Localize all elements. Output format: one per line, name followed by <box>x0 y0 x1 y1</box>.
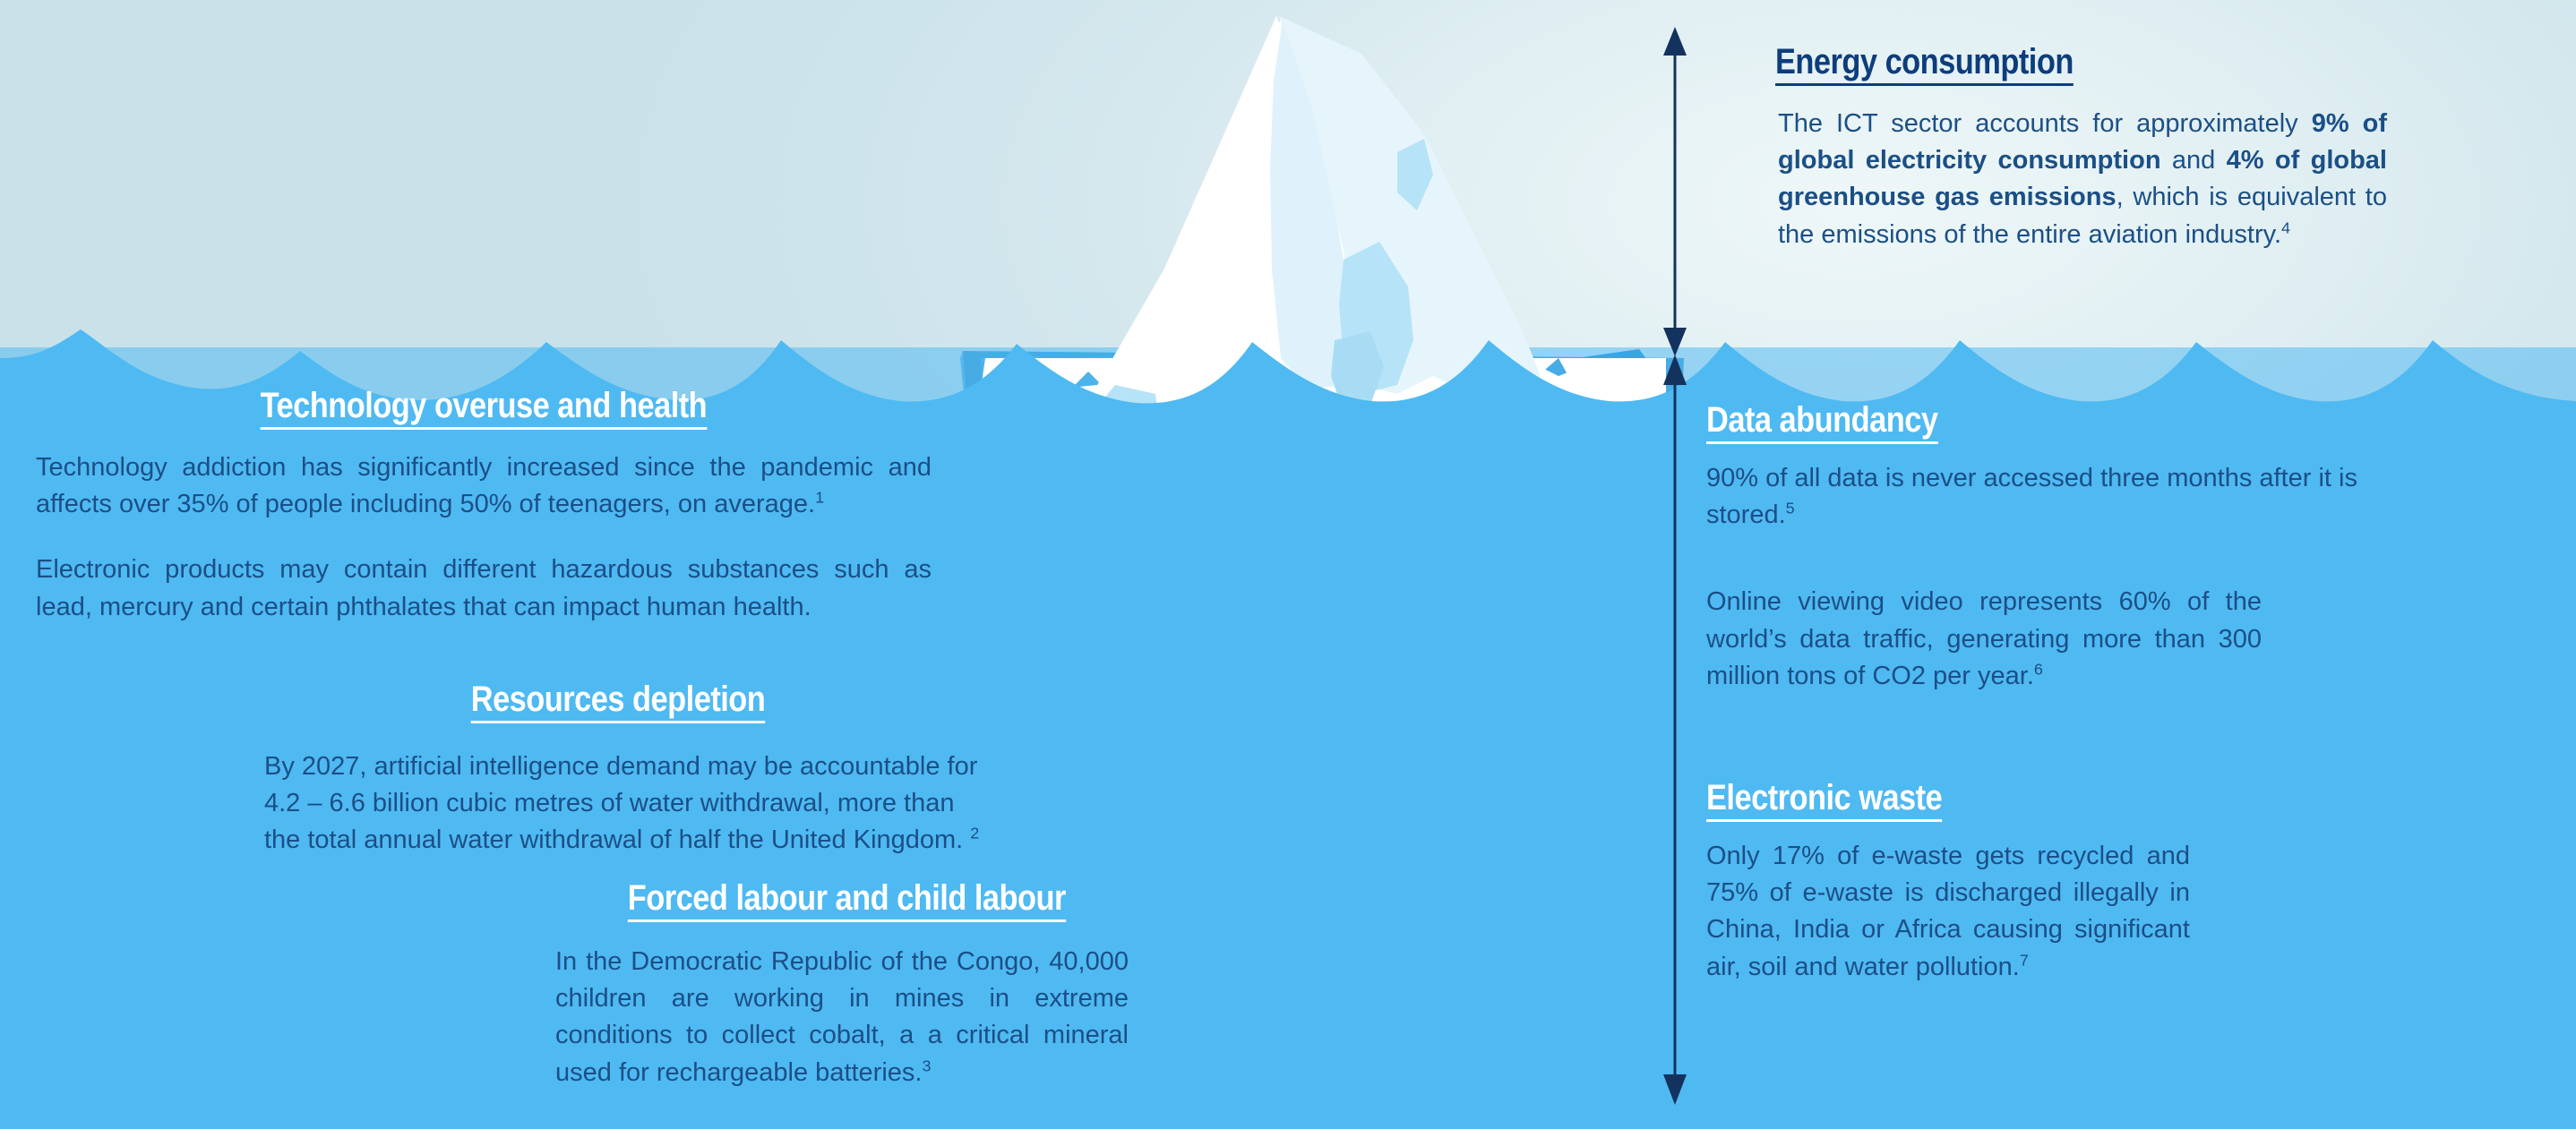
paragraph-forced-labour: In the Democratic Republic of the Congo,… <box>555 944 1129 1091</box>
tech-p2-text: Electronic products may contain differen… <box>36 555 932 620</box>
paragraph-technology-addiction: Technology addiction has significantly i… <box>36 449 932 523</box>
heading-forced-labour: Forced labour and child labour <box>627 879 1065 922</box>
energy-seg-0: The ICT sector accounts for approximatel… <box>1778 109 2312 138</box>
below-water-extent-arrow <box>1663 355 1687 1105</box>
heading-resources-depletion: Resources depletion <box>471 680 766 723</box>
ewaste-text: Only 17% of e-waste gets recycled and 75… <box>1706 842 2190 981</box>
heading-wrap-technology: Technology overuse and health <box>36 387 932 430</box>
energy-seg-2: and <box>2161 146 2227 175</box>
heading-wrap-electronic-waste: Electronic waste <box>1706 779 2208 822</box>
footnote-marker-2: 2 <box>970 825 979 842</box>
heading-electronic-waste: Electronic waste <box>1706 779 1942 822</box>
footnote-marker-5: 5 <box>1786 500 1795 517</box>
paragraph-energy-consumption: The ICT sector accounts for approximatel… <box>1778 106 2387 253</box>
heading-data-abundancy: Data abundancy <box>1706 401 1937 444</box>
res-text: By 2027, artificial intelligence demand … <box>264 752 977 854</box>
heading-technology-overuse: Technology overuse and health <box>261 387 708 430</box>
heading-energy-consumption: Energy consumption <box>1775 43 2074 86</box>
paragraph-electronic-waste: Only 17% of e-waste gets recycled and 75… <box>1706 838 2190 986</box>
section-energy-consumption: Energy consumption The ICT sector accoun… <box>1778 43 2405 253</box>
data-p1-text: 90% of all data is never accessed three … <box>1706 464 2357 529</box>
paragraph-resources-depletion: By 2027, artificial intelligence demand … <box>264 748 981 860</box>
section-forced-labour: Forced labour and child labour In the De… <box>555 879 1138 1091</box>
section-resources-depletion: Resources depletion By 2027, artificial … <box>264 680 972 860</box>
footnote-marker-3: 3 <box>922 1056 931 1074</box>
section-electronic-waste: Electronic waste Only 17% of e-waste get… <box>1706 779 2208 986</box>
forced-text: In the Democratic Republic of the Congo,… <box>555 947 1129 1087</box>
heading-wrap-forced-labour: Forced labour and child labour <box>555 879 1138 922</box>
infographic-canvas: Energy consumption The ICT sector accoun… <box>0 0 2576 1129</box>
footnote-marker-4: 4 <box>2281 218 2290 236</box>
footnote-marker-1: 1 <box>815 489 824 507</box>
heading-wrap-resources: Resources depletion <box>264 680 972 723</box>
section-technology-overuse: Technology overuse and health Technology… <box>36 387 932 626</box>
data-p2-text: Online viewing video represents 60% of t… <box>1706 587 2262 689</box>
above-water-extent-arrow <box>1663 27 1687 356</box>
section-data-abundancy: Data abundancy 90% of all data is never … <box>1706 401 2423 695</box>
paragraph-hazardous-substances: Electronic products may contain differen… <box>36 552 932 625</box>
tech-p1-text: Technology addiction has significantly i… <box>36 453 932 518</box>
heading-wrap-data-abundancy: Data abundancy <box>1706 401 2423 444</box>
heading-wrap-energy: Energy consumption <box>1775 43 2405 86</box>
paragraph-online-video-traffic: Online viewing video represents 60% of t… <box>1706 584 2262 695</box>
footnote-marker-6: 6 <box>2034 660 2043 678</box>
paragraph-data-never-accessed: 90% of all data is never accessed three … <box>1706 460 2414 534</box>
footnote-marker-7: 7 <box>2020 951 2029 969</box>
